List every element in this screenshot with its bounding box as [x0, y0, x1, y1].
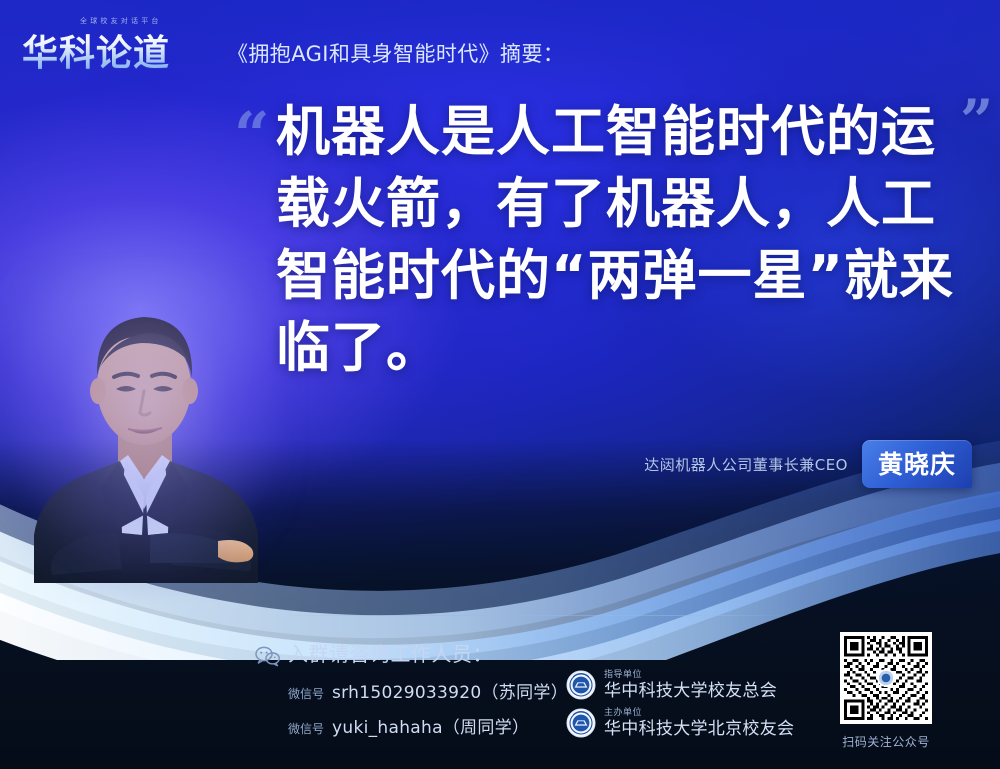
attribution: 达闼机器人公司董事长兼CEO 黄晓庆 — [644, 440, 972, 488]
university-seal-icon — [566, 708, 596, 738]
university-seal-icon — [566, 670, 596, 700]
wechat-icon — [255, 645, 281, 667]
quote-open-mark: “ — [234, 104, 270, 166]
page-title: 《拥抱AGI和具身智能时代》摘要： — [227, 38, 564, 68]
contact-value: srh15029033920（苏同学） — [332, 678, 568, 703]
join-instruction: 入群请咨询工作人员： — [288, 638, 493, 667]
poster-root: 全球校友对话平台 华科论道 《拥抱AGI和具身智能时代》摘要： — [0, 0, 1000, 769]
qr-caption: 扫码关注公众号 — [840, 733, 932, 750]
header: 全球校友对话平台 华科论道 《拥抱AGI和具身智能时代》摘要： — [0, 0, 1000, 92]
quote-block: “ 机器人是人工智能时代的运 载火箭，有了机器人，人工 智能时代的“两弹一星”就… — [276, 96, 956, 384]
logo-wordmark: 华科论道 — [22, 24, 170, 76]
portrait-glow — [0, 265, 300, 595]
qr-code-icon[interactable] — [840, 632, 932, 724]
speaker-name-badge: 黄晓庆 — [862, 440, 972, 488]
qr-section[interactable]: 扫码关注公众号 — [840, 632, 940, 750]
organization-name: 华中科技大学北京校友会 — [604, 721, 794, 738]
quote-line: 载火箭，有了机器人，人工 — [276, 168, 956, 240]
quote-line: 智能时代的“两弹一星”就来 — [276, 240, 956, 312]
organization-name: 华中科技大学校友总会 — [604, 683, 777, 700]
speaker-portrait — [22, 283, 267, 583]
organization-row: 指导单位 华中科技大学校友总会 — [566, 670, 777, 700]
contact-value: yuki_hahaha（周同学） — [332, 713, 529, 738]
speaker-role: 达闼机器人公司董事长兼CEO — [644, 454, 848, 475]
contact-label: 微信号 — [288, 720, 324, 737]
brand-logo[interactable]: 全球校友对话平台 华科论道 — [22, 14, 218, 72]
contact-row[interactable]: 微信号 yuki_hahaha（周同学） — [288, 713, 529, 738]
quote-line: 机器人是人工智能时代的运 — [276, 96, 956, 168]
organization-kicker: 主办单位 — [604, 709, 794, 718]
contact-label: 微信号 — [288, 685, 324, 702]
qr-code-matrix — [844, 636, 928, 720]
organization-kicker: 指导单位 — [604, 671, 777, 680]
contact-row[interactable]: 微信号 srh15029033920（苏同学） — [288, 678, 568, 703]
quote-line: 临了。 — [276, 312, 441, 384]
organization-row: 主办单位 华中科技大学北京校友会 — [566, 708, 794, 738]
footer-divider — [288, 615, 788, 616]
quote-close-mark: ” — [960, 92, 994, 150]
